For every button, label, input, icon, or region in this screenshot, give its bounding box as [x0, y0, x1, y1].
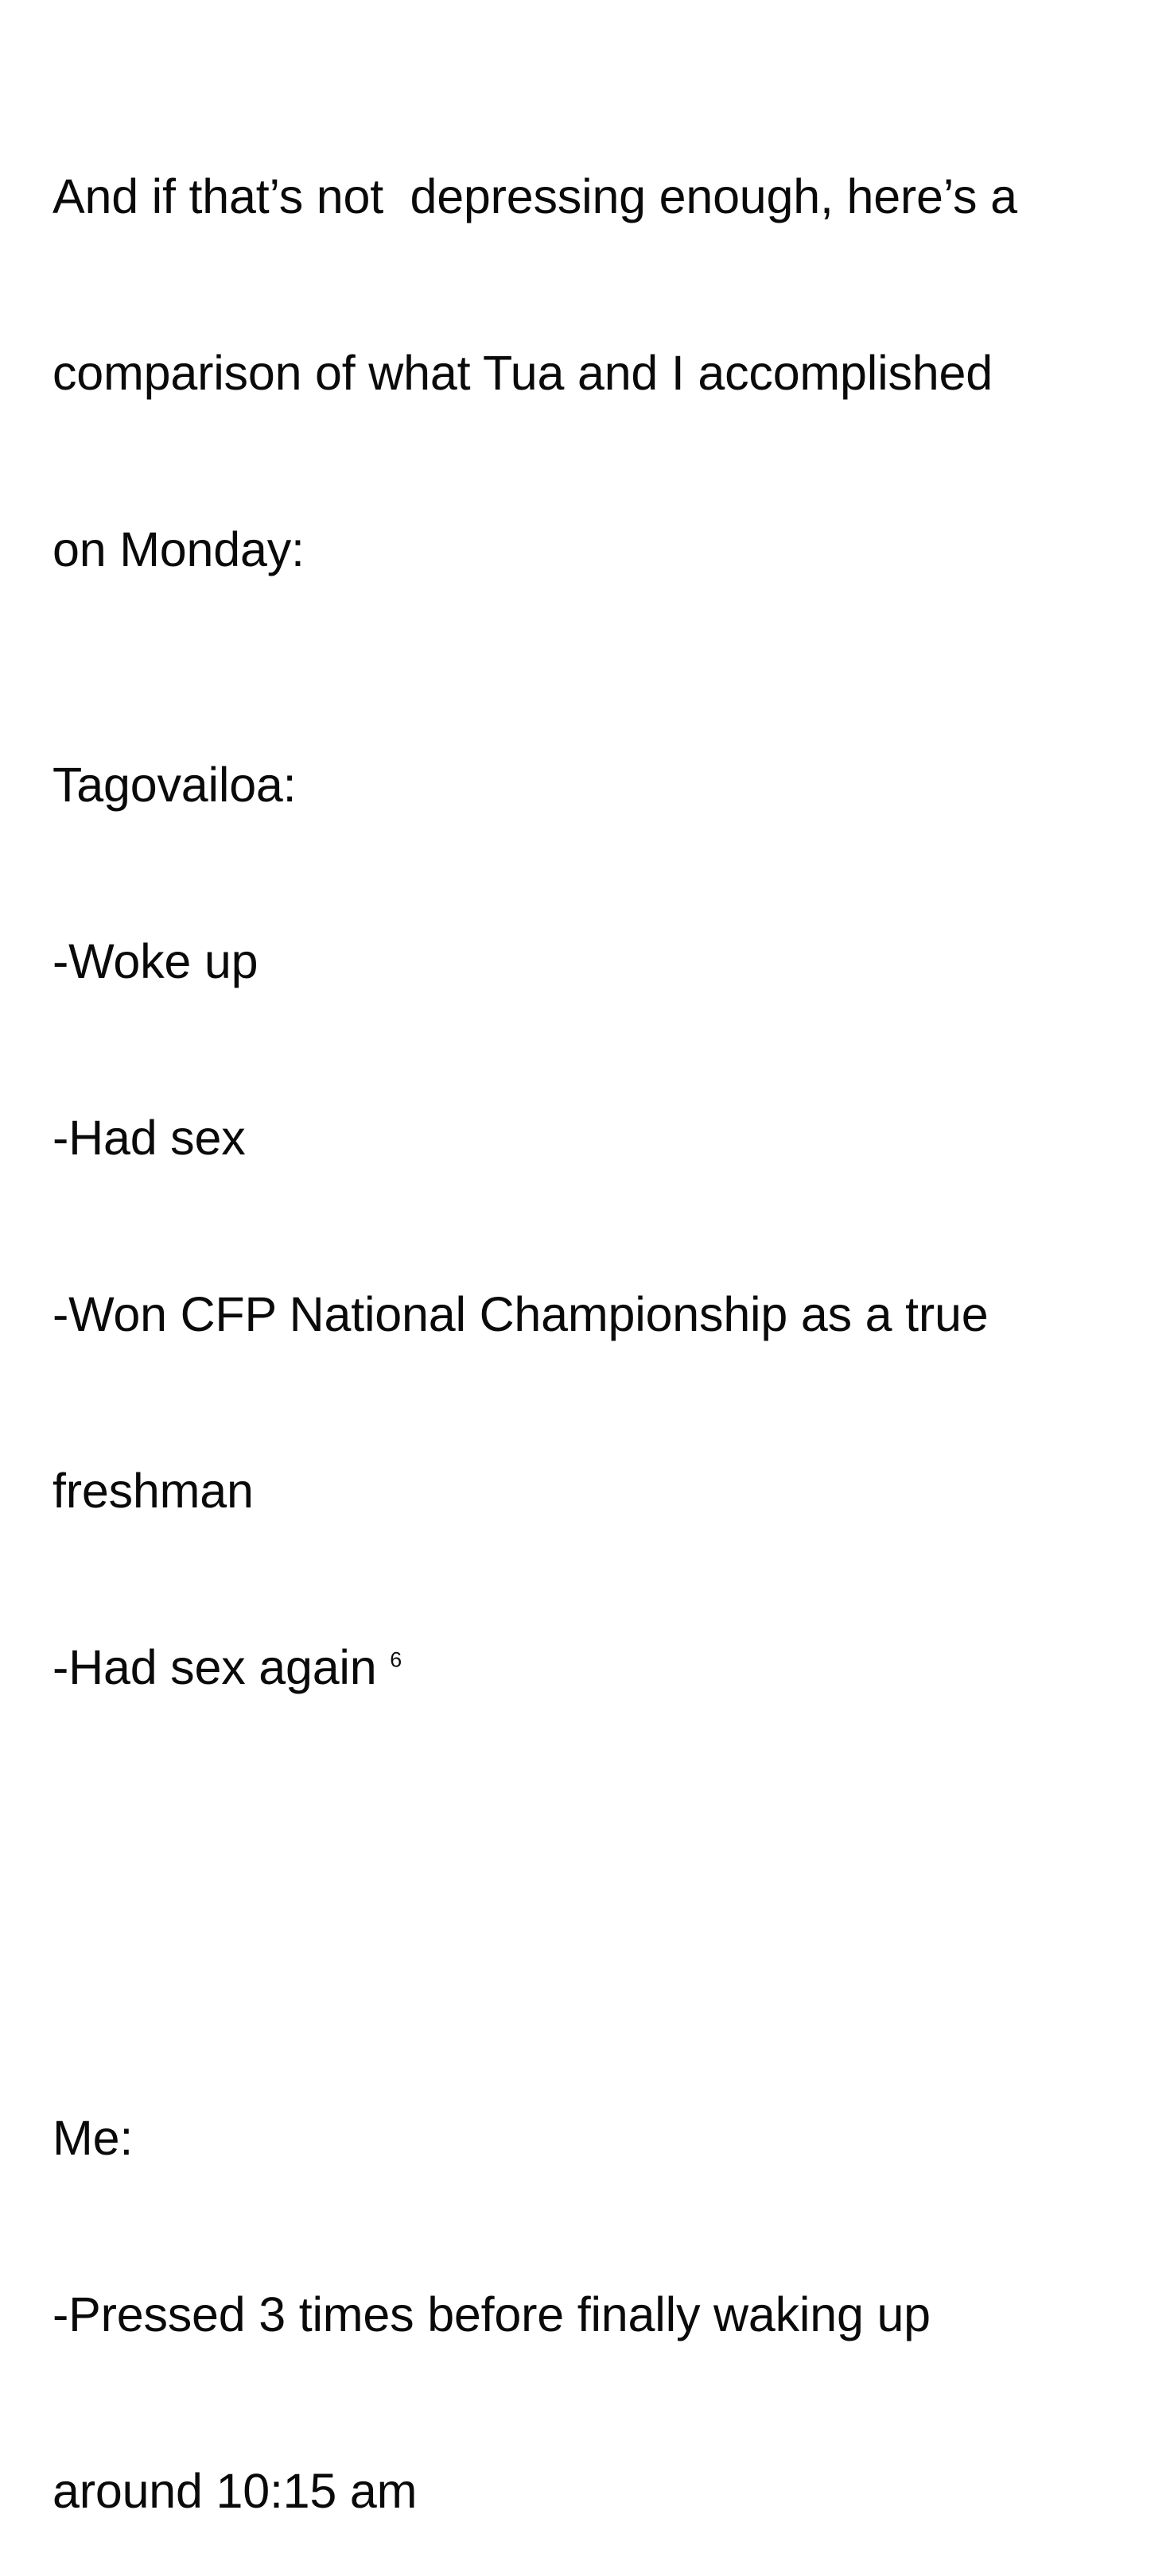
section-heading-me: Me: [52, 2109, 1118, 2167]
list-item: -Won CFP National Championship as a true [52, 1285, 1118, 1344]
list-item: -Had sex [52, 1108, 1118, 1167]
list-item-continuation: around 10:15 am [52, 2462, 1118, 2520]
list-item: -Had sex again 6 [52, 1638, 1118, 1697]
intro-line-2: comparison of what Tua and I accomplishe… [52, 343, 1118, 402]
body-text: And if that’s not depressing enough, her… [52, 0, 1118, 2576]
intro-line-1: And if that’s not depressing enough, her… [52, 167, 1118, 226]
list-item-text: -Had sex again [52, 1640, 390, 1694]
list-item-continuation: freshman [52, 1461, 1118, 1520]
footnote-marker: 6 [390, 1648, 402, 1672]
intro-line-3: on Monday: [52, 520, 1118, 579]
list-item: -Pressed 3 times before finally waking u… [52, 2285, 1118, 2344]
document-page: And if that’s not depressing enough, her… [0, 0, 1174, 1288]
paragraph-spacer [52, 1873, 1118, 1932]
list-item: -Woke up [52, 932, 1118, 991]
section-heading-tagovailoa: Tagovailoa: [52, 755, 1118, 814]
